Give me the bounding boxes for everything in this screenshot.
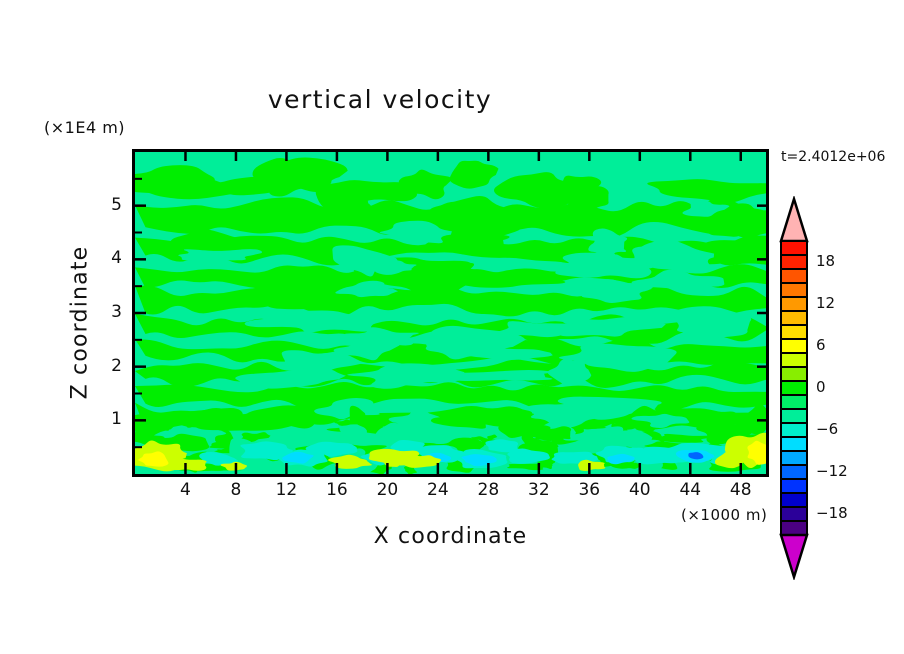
y-tick-label: 2 [98,356,122,376]
page-title: vertical velocity [0,85,760,114]
x-tick-label: 32 [519,480,559,500]
colorbar-band [781,409,807,423]
x-tick-label: 36 [569,480,609,500]
colorbar-over-arrow [781,199,807,241]
x-axis-title: X coordinate [135,524,766,549]
colorbar-band [781,367,807,381]
colorbar-tick-label: 18 [816,252,835,270]
colorbar-tick-label: 6 [816,336,826,354]
colorbar-band [781,381,807,395]
colorbar-tick-label: 12 [816,294,835,312]
colorbar-tick-label: −6 [816,420,838,438]
x-tick-label: 20 [367,480,407,500]
colorbar-band [781,493,807,507]
x-tick-label: 28 [468,480,508,500]
x-tick-label: 48 [721,480,761,500]
colorbar-band [781,437,807,451]
x-tick-label: 40 [620,480,660,500]
y-tick-label: 4 [98,248,122,268]
colorbar[interactable] [778,196,818,516]
colorbar-band [781,283,807,297]
colorbar-band [781,395,807,409]
colorbar-band [781,339,807,353]
colorbar-band [781,241,807,255]
x-tick-label: 16 [317,480,357,500]
colorbar-band [781,521,807,535]
colorbar-band [781,297,807,311]
colorbar-band [781,423,807,437]
colorbar-band [781,325,807,339]
colorbar-band [781,507,807,521]
colorbar-band [781,479,807,493]
x-tick-label: 24 [418,480,458,500]
x-tick-label: 4 [165,480,205,500]
colorbar-band [781,269,807,283]
colorbar-band [781,311,807,325]
colorbar-band [781,353,807,367]
y-axis-unit-label: (×1E4 m) [44,118,125,137]
colorbar-band [781,451,807,465]
x-axis-unit-label: (×1000 m) [681,506,767,524]
colorbar-tick-label: −18 [816,504,848,522]
colorbar-band [781,465,807,479]
x-tick-label: 44 [670,480,710,500]
y-tick-label: 1 [98,409,122,429]
colorbar-tick-label: 0 [816,378,826,396]
colorbar-swatches[interactable] [778,196,810,580]
x-tick-label: 8 [216,480,256,500]
x-tick-label: 12 [266,480,306,500]
colorbar-band [781,255,807,269]
y-axis-title: Z coordinate [68,223,93,423]
colorbar-tick-label: −12 [816,462,848,480]
colorbar-under-arrow [781,535,807,577]
y-tick-label: 5 [98,195,122,215]
time-annotation: t=2.4012e+06 [781,149,885,165]
contour-plot [135,152,766,474]
y-tick-label: 3 [98,302,122,322]
